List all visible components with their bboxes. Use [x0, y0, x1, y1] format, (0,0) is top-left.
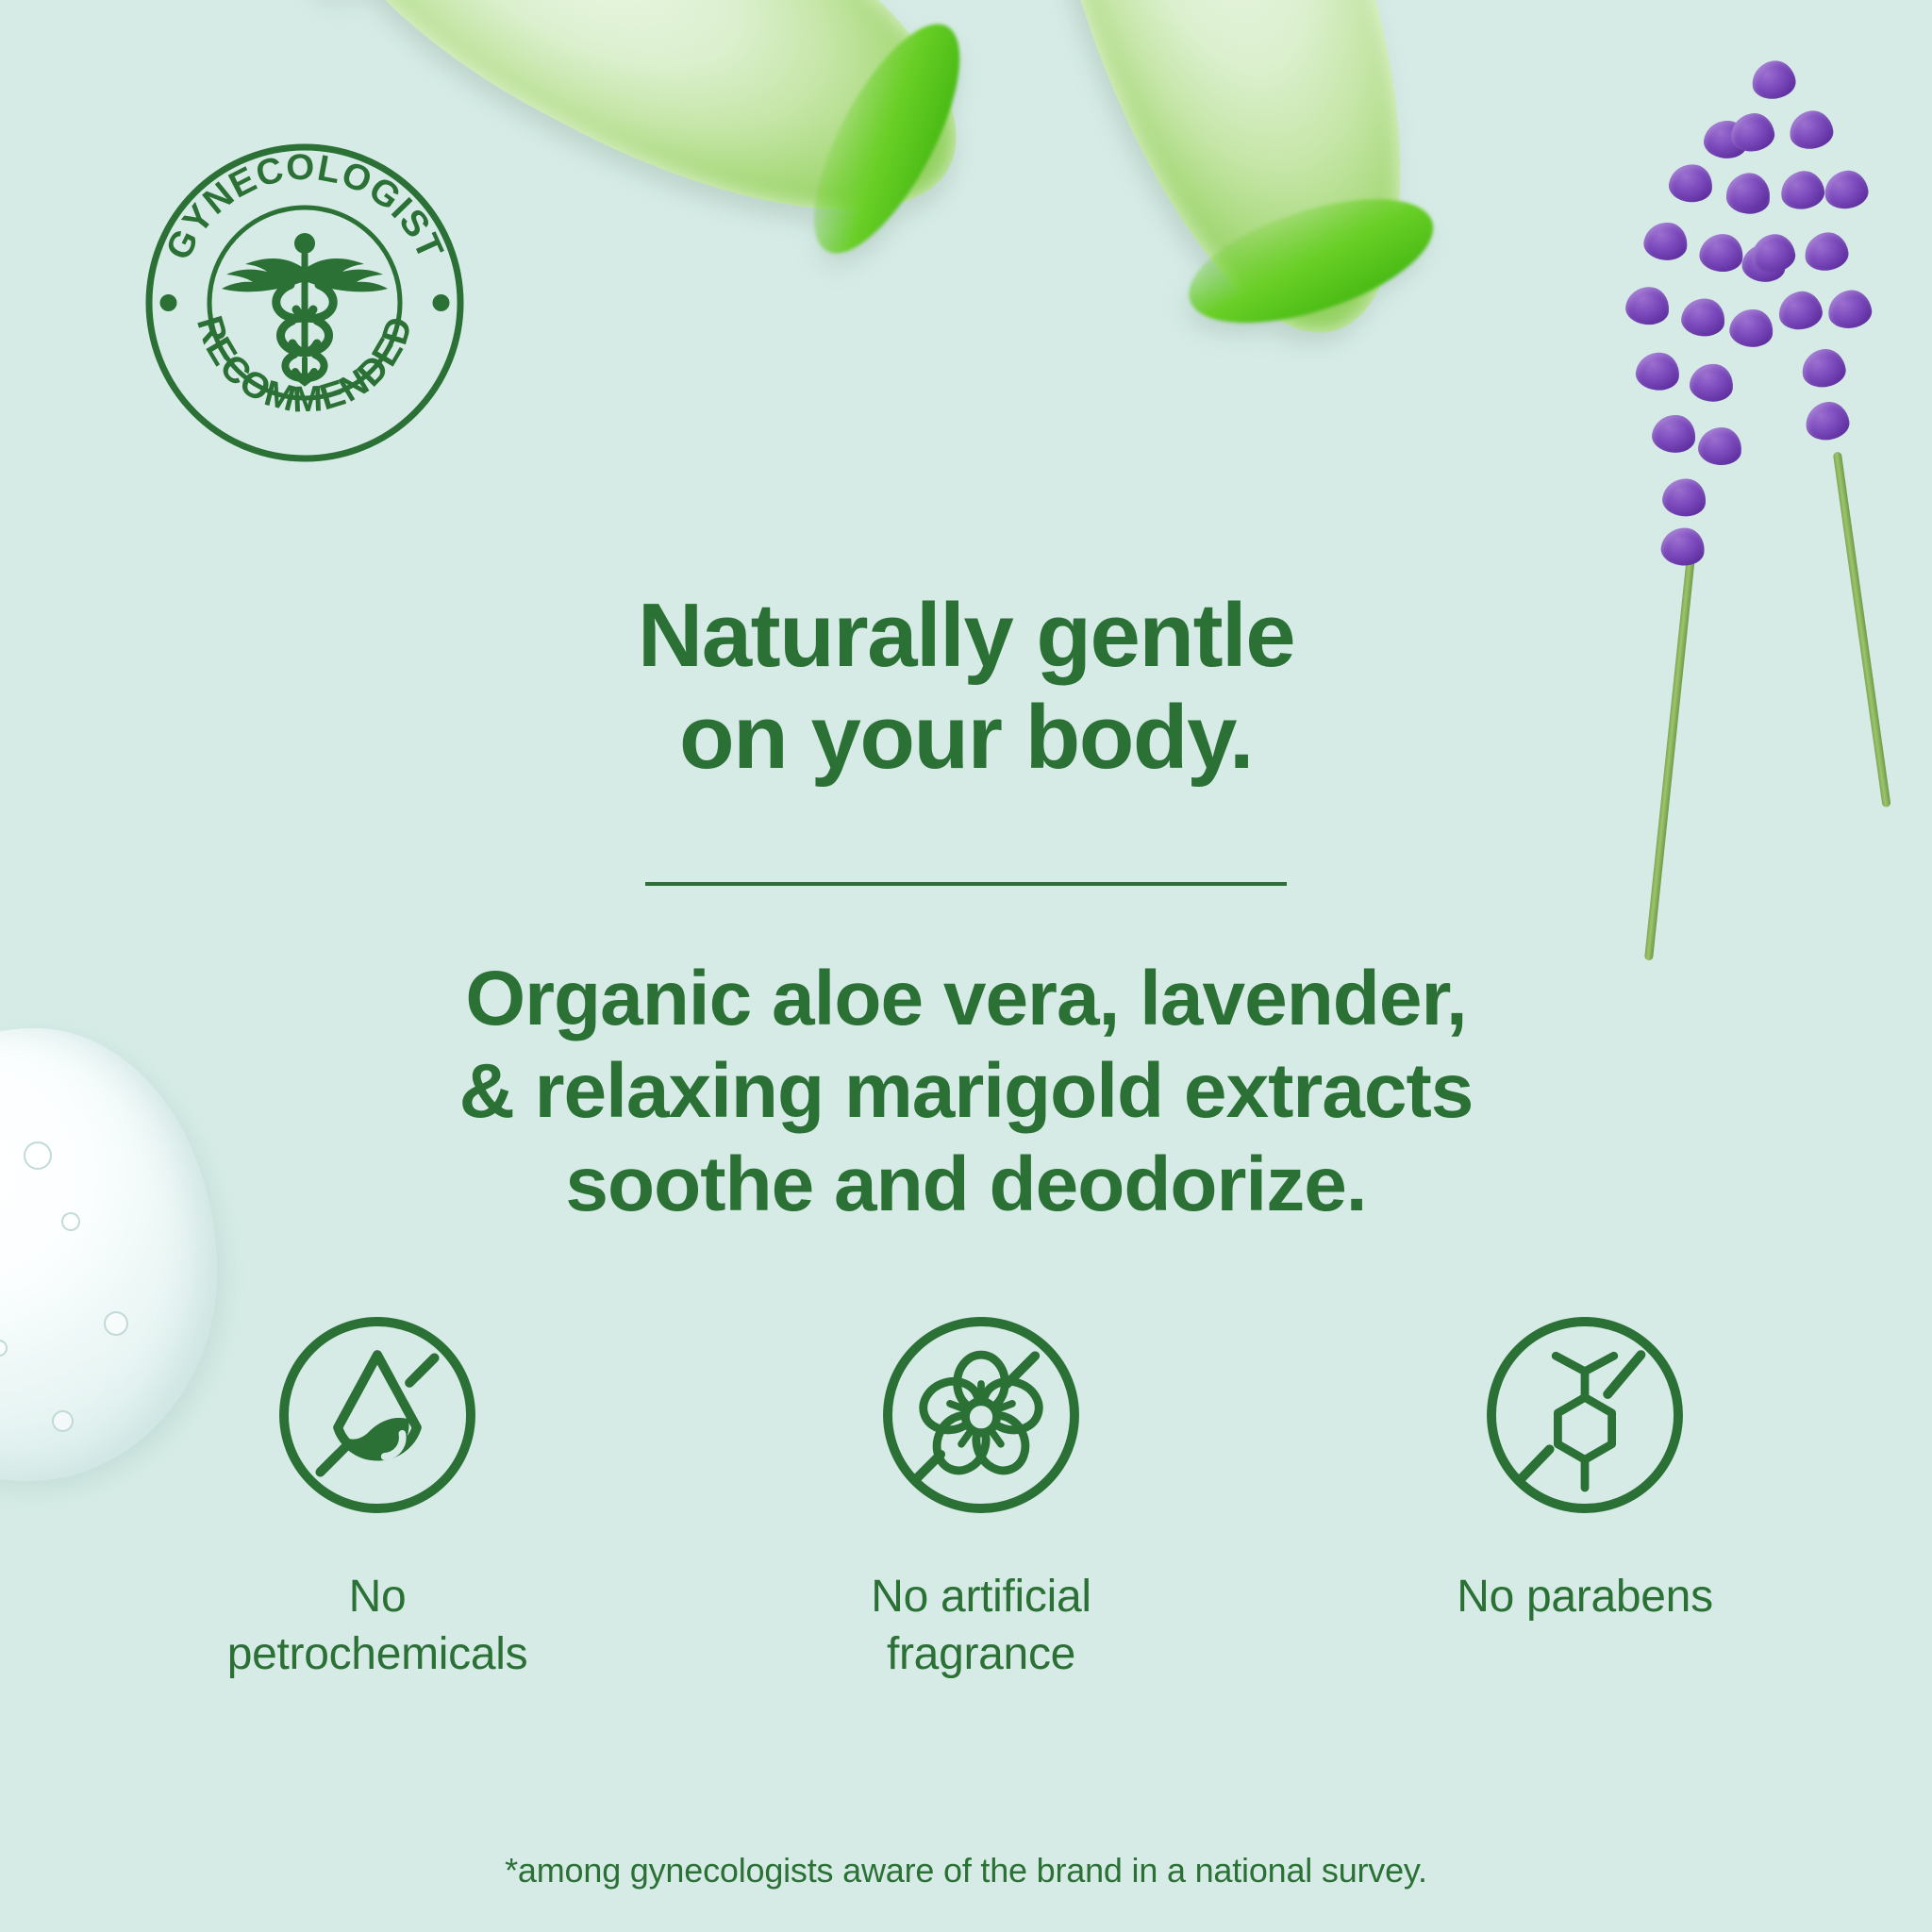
product-benefits-banner: GYNECOLOGIST RECOMMENDED: [0, 0, 1932, 1932]
lavender-sprig-icon: [1504, 101, 1874, 974]
benefit-label: No petrochemicals: [227, 1568, 528, 1684]
benefit-label: No artificial fragrance: [871, 1568, 1091, 1684]
footnote: *among gynecologists aware of the brand …: [0, 1851, 1932, 1890]
benefit-label: No parabens: [1457, 1568, 1713, 1625]
body-copy-line-3: soothe and deodorize.: [0, 1139, 1932, 1231]
body-copy-line-2: & relaxing marigold extracts: [0, 1045, 1932, 1138]
no-paraben-molecule-icon: [1481, 1311, 1689, 1519]
headline-line-1: Naturally gentle: [0, 585, 1932, 687]
divider: [645, 882, 1287, 886]
seal-dot-left: [160, 294, 177, 311]
gynecologist-recommended-seal: GYNECOLOGIST RECOMMENDED: [143, 142, 466, 464]
aloe-vera-slice-icon: [963, 0, 1472, 374]
headline-line-2: on your body.: [0, 687, 1932, 789]
no-flower-icon: [877, 1311, 1085, 1519]
body-copy: Organic aloe vera, lavender, & relaxing …: [0, 953, 1932, 1231]
page-title: Naturally gentle on your body.: [0, 585, 1932, 788]
benefit-no-petrochemicals: No petrochemicals: [160, 1311, 594, 1684]
benefits-row: No petrochemicals: [160, 1311, 1802, 1684]
body-copy-line-1: Organic aloe vera, lavender,: [0, 953, 1932, 1045]
benefit-no-parabens: No parabens: [1368, 1311, 1802, 1625]
benefit-no-artificial-fragrance: No artificial fragrance: [764, 1311, 1198, 1684]
seal-dot-right: [433, 294, 450, 311]
no-droplet-icon: [274, 1311, 481, 1519]
